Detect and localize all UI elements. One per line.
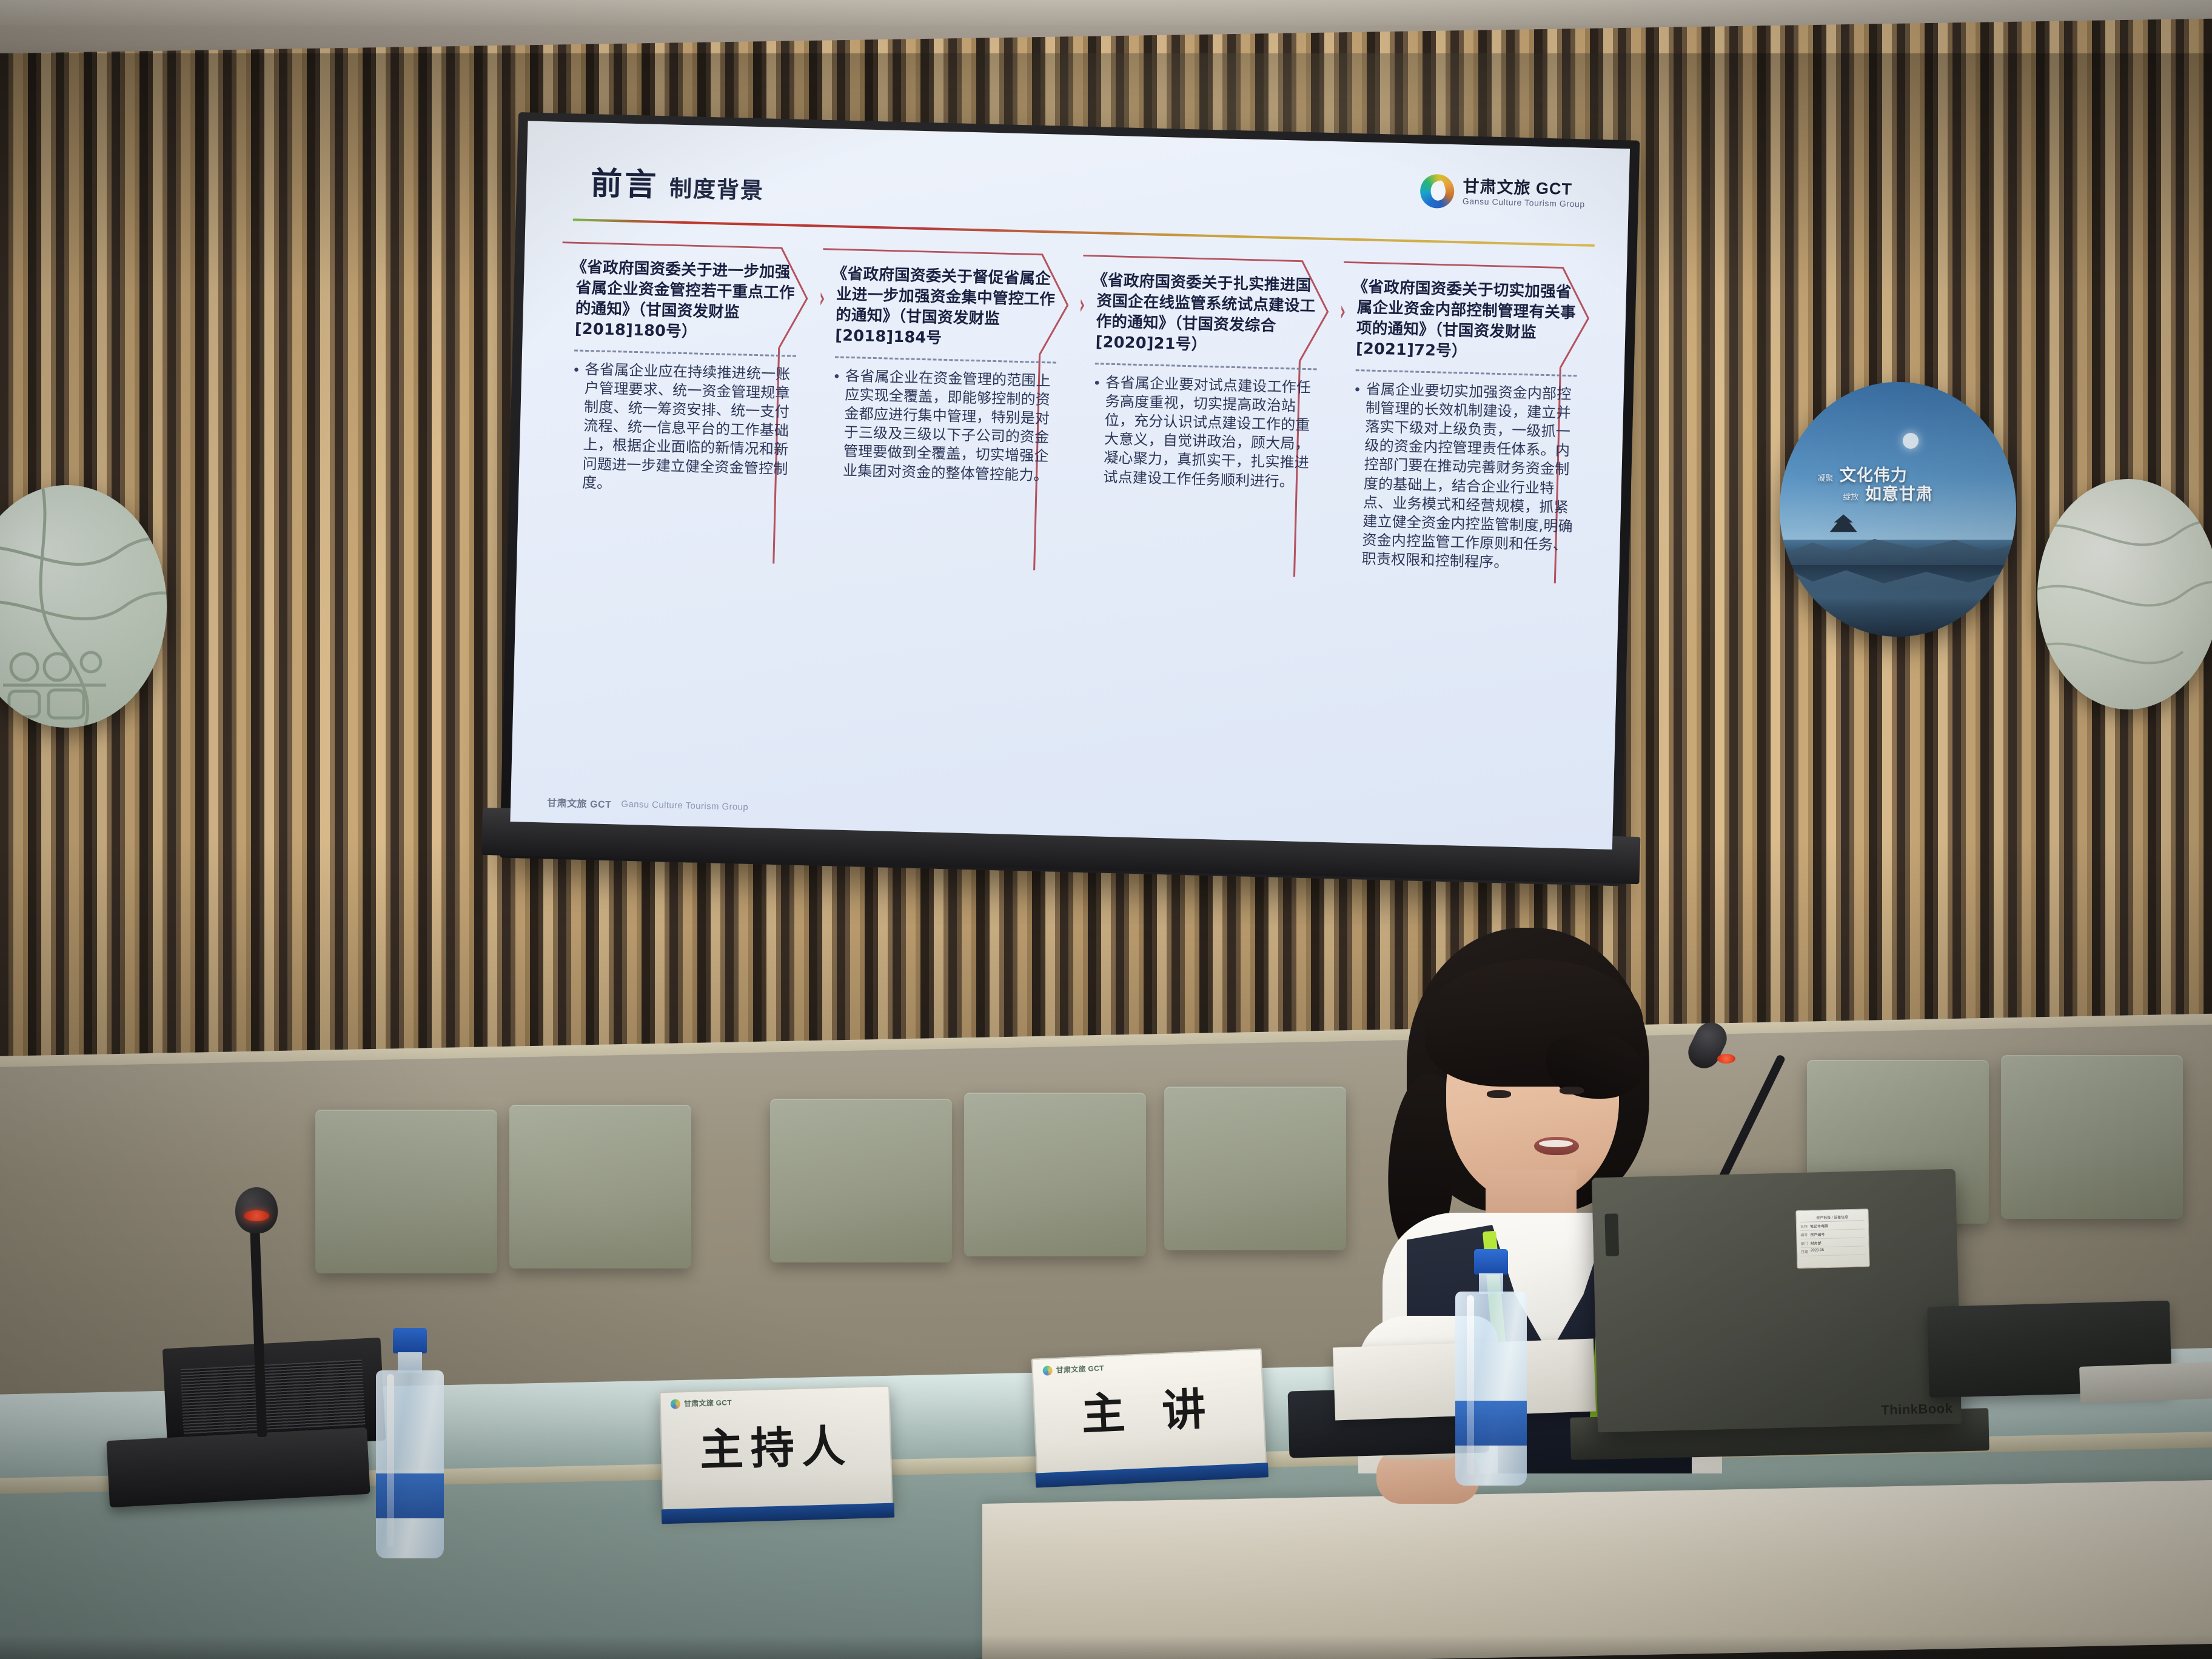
sticker-row: 日期 2023-05: [1801, 1246, 1865, 1256]
column-title: 《省政府国资委关于扎实推进国资国企在线监管系统试点建设工作的通知》（甘国资发综合…: [1095, 270, 1319, 358]
slide-footer: 甘肃文旅 GCT Gansu Culture Tourism Group: [547, 795, 749, 814]
name-placard-speaker: 甘肃文旅 GCT 主 讲: [1031, 1348, 1267, 1476]
wall-disc-right-small: [2037, 479, 2212, 709]
slide-column: 《省政府国资委关于切实加强省属企业资金内部控制管理有关事项的通知》（甘国资发财监…: [1334, 261, 1590, 585]
laptop-brand-label: ThinkBook: [1881, 1401, 1953, 1418]
chair: [964, 1093, 1146, 1256]
chair: [770, 1099, 952, 1262]
column-title: 《省政府国资委关于督促省属企业进一步加强资金集中管控工作的通知》（甘国资发财监[…: [835, 264, 1059, 352]
slide-header: 前言 制度背景 甘肃文旅 GCT Gansu Culture Tourism G…: [558, 149, 1597, 229]
mic-unit-base: [106, 1427, 370, 1507]
laptop-lid[interactable]: 资产标签 / 设备信息 名称 笔记本电脑 编号 资产编号 部门 财务部 日期 2…: [1592, 1169, 1962, 1433]
bullet-dot-icon: •: [831, 367, 839, 480]
bullet-dot-icon: •: [1350, 381, 1360, 569]
presenter-eye-left: [1487, 1090, 1511, 1098]
column-divider: [1355, 369, 1577, 377]
brand-name-en: Gansu Culture Tourism Group: [1463, 196, 1585, 209]
placard-brand: 甘肃文旅 GCT: [671, 1393, 879, 1409]
bottle-body: [1455, 1292, 1527, 1486]
disc-sky: [1780, 382, 2016, 540]
presentation-slide: 前言 制度背景 甘肃文旅 GCT Gansu Culture Tourism G…: [510, 121, 1630, 850]
chair: [509, 1105, 691, 1269]
slide-footer-cn: 甘肃文旅 GCT: [547, 795, 612, 811]
disc-cal-tiny1: 凝聚: [1817, 474, 1833, 483]
column-title: 《省政府国资委关于进一步加强省属企业资金管控若干重点工作的通知》（甘国资发财监[…: [575, 258, 799, 346]
scene-foreground-shadow: [0, 1635, 2212, 1659]
chair: [1164, 1087, 1346, 1250]
presenter-bangs: [1425, 959, 1643, 1087]
column-title: 《省政府国资委关于切实加强省属企业资金内部控制管理有关事项的通知》（甘国资发财监…: [1356, 277, 1580, 365]
slide-title-group: 前言 制度背景: [558, 149, 765, 208]
bottle-neck: [1479, 1273, 1503, 1294]
slide-column: 《省政府国资委关于扎实推进国资国企在线监管系统试点建设工作的通知》（甘国资发综合…: [1074, 255, 1330, 579]
name-placard-host: 甘肃文旅 GCT 主持人: [659, 1386, 893, 1513]
bottle-cap: [393, 1328, 427, 1353]
sticker-value: 笔记本电脑: [1810, 1223, 1828, 1229]
sticker-key: 编号: [1800, 1232, 1808, 1238]
sticker-key: 名称: [1800, 1224, 1808, 1229]
slide-title-main: 前言: [590, 158, 659, 205]
slide-title-sub: 制度背景: [669, 170, 764, 205]
slide-footer-en: Gansu Culture Tourism Group: [621, 799, 748, 812]
sticker-key: 部门: [1801, 1241, 1808, 1246]
column-divider: [1095, 363, 1316, 370]
gct-logo-icon: [1042, 1366, 1053, 1376]
wall-display: 前言 制度背景 甘肃文旅 GCT Gansu Culture Tourism G…: [500, 112, 1640, 886]
mic-unit-grille: [180, 1359, 365, 1436]
column-divider: [574, 349, 796, 357]
bottle-label: [376, 1473, 444, 1518]
placard-role-label: 主持人: [671, 1409, 881, 1479]
laptop-hinge: [1604, 1213, 1619, 1256]
column-bullet-text: 各省属企业要对试点建设工作任务高度重视，切实提高政治站位，充分认识试点建设工作的…: [1103, 373, 1316, 492]
water-bottle: [376, 1328, 444, 1558]
display-screen[interactable]: 前言 制度背景 甘肃文旅 GCT Gansu Culture Tourism G…: [510, 121, 1630, 850]
bottle-highlight: [1467, 1295, 1474, 1475]
conference-room-scene: 凝聚 文化伟力 绽放 如意甘肃 前言 制度背景: [0, 0, 2212, 1659]
column-bullet: • 各省属企业要对试点建设工作任务高度重视，切实提高政治站位，充分认识试点建设工…: [1092, 373, 1316, 492]
sticker-value: 2023-05: [1811, 1248, 1824, 1255]
column-bullet-text: 各省属企业应在持续推进统一账户管理要求、统一资金管理规章制度、统一筹资安排、统一…: [582, 360, 796, 498]
keyboard-tray: [2079, 1362, 2212, 1403]
gct-logo-icon: [671, 1399, 680, 1409]
laptop-asset-sticker: 资产标签 / 设备信息 名称 笔记本电脑 编号 资产编号 部门 财务部 日期 2…: [1795, 1208, 1869, 1269]
column-bullet: • 各省属企业应在持续推进统一账户管理要求、统一资金管理规章制度、统一筹资安排、…: [571, 360, 796, 497]
slide-columns: 《省政府国资委关于进一步加强省属企业资金管控若干重点工作的通知》（甘国资发财监[…: [549, 241, 1594, 586]
bottle-cap: [1474, 1249, 1508, 1275]
column-bullet-text: 各省属企业在资金管理的范围上应实现全覆盖，即能够控制的资金都应进行集中管理，特别…: [843, 366, 1056, 485]
column-divider: [834, 356, 1056, 363]
disc-cal-line1: 文化伟力: [1840, 466, 1908, 485]
sticker-value: 财务部: [1811, 1240, 1822, 1245]
brand-text: 甘肃文旅 GCT Gansu Culture Tourism Group: [1463, 178, 1586, 209]
chair: [2001, 1055, 2183, 1219]
placard-role-label: 主 讲: [1043, 1371, 1254, 1444]
column-bullet: • 各省属企业在资金管理的范围上应实现全覆盖，即能够控制的资金都应进行集中管理，…: [831, 366, 1056, 485]
mic-status-light-icon[interactable]: [244, 1210, 269, 1221]
microphone-status-light-icon[interactable]: [1717, 1054, 1735, 1064]
slide-column: 《省政府国资委关于督促省属企业进一步加强资金集中管控工作的通知》（甘国资发财监[…: [814, 248, 1070, 572]
column-bullet: • 省属企业要切实加强资金内部控制管理的长效机制建设，建立并落实下级对上级负责，…: [1350, 380, 1577, 574]
disc-cal-line2: 如意甘肃: [1865, 485, 1933, 504]
bullet-dot-icon: •: [1092, 374, 1100, 486]
bottle-highlight: [387, 1374, 394, 1547]
bottle-neck: [398, 1352, 422, 1373]
placard-brand-text: 甘肃文旅 GCT: [684, 1397, 732, 1409]
sticker-key: 日期: [1801, 1249, 1808, 1255]
chair: [315, 1110, 497, 1273]
disc-moon: [1903, 433, 1919, 449]
water-bottle: [1455, 1249, 1527, 1486]
bottle-label: [1455, 1401, 1527, 1446]
brand-name-cn: 甘肃文旅 GCT: [1463, 178, 1586, 198]
column-bullet-text: 省属企业要切实加强资金内部控制管理的长效机制建设，建立并落实下级对上级负责，一级…: [1361, 380, 1577, 574]
tablecloth: [982, 1480, 2212, 1659]
bullet-dot-icon: •: [571, 361, 579, 492]
presenter-mouth: [1534, 1137, 1579, 1155]
slide-column: 《省政府国资委关于进一步加强省属企业资金管控若干重点工作的通知》（甘国资发财监[…: [553, 241, 809, 566]
placard-brand-text: 甘肃文旅 GCT: [1056, 1362, 1104, 1375]
wall-disc-landscape: 凝聚 文化伟力 绽放 如意甘肃: [1780, 382, 2016, 637]
bottle-body: [376, 1370, 444, 1558]
ceiling-strip: [0, 0, 2212, 25]
sticker-value: 资产编号: [1810, 1232, 1825, 1238]
disc-cal-tiny2: 绽放: [1843, 493, 1858, 502]
disc-calligraphy: 凝聚 文化伟力 绽放 如意甘肃: [1817, 466, 1992, 505]
presenter-eye-right: [1560, 1087, 1584, 1094]
slide-brand-logo: 甘肃文旅 GCT Gansu Culture Tourism Group: [1420, 170, 1597, 212]
gct-logo-icon: [1420, 174, 1455, 209]
wall-disc-left: [0, 485, 167, 728]
